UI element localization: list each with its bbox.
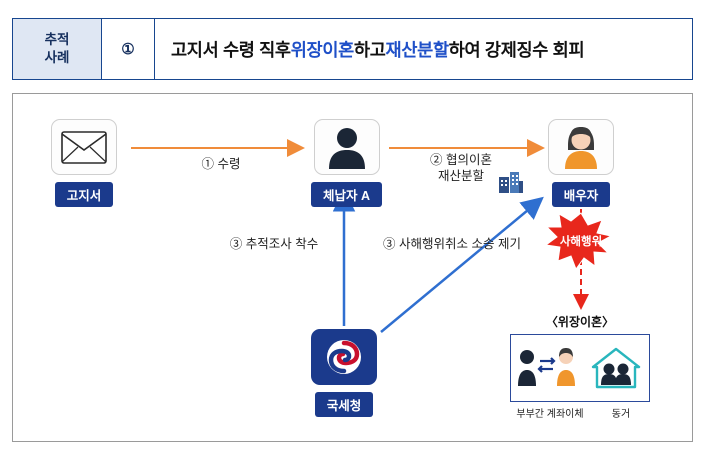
edge-label-receive: ① 수령	[171, 156, 271, 172]
node-taxpayer[interactable]: 체납자 A	[311, 119, 382, 207]
case-header-number: ①	[102, 19, 155, 79]
case-header-title-part-4: 하여 강제징수 회피	[449, 37, 585, 62]
edge-label-lawsuit: ③ 사해행위취소 소송 제기	[357, 236, 547, 252]
edge-label-investigate: ③ 추적조사 착수	[199, 236, 349, 252]
building-icon	[498, 170, 524, 194]
node-nts-label: 국세청	[315, 392, 374, 417]
cohabitation-house-icon	[589, 345, 643, 391]
detail-title: 〈위장이혼〉	[510, 313, 650, 330]
case-header-label: 추적 사례	[13, 19, 102, 79]
case-header-title-part-1: 위장이혼	[291, 37, 354, 62]
edge-label-divorce-line1: ② 협의이혼	[401, 152, 521, 168]
envelope-icon	[51, 119, 117, 175]
case-header-title: 고지서 수령 직후 위장이혼하고 재산분할하여 강제징수 회피	[155, 19, 692, 79]
detail-box	[510, 334, 650, 402]
case-header-label-line2: 사례	[45, 49, 70, 67]
node-nts[interactable]: 국세청	[311, 329, 377, 417]
diagram-panel: 고지서 체납자 A 배우자	[12, 93, 693, 442]
node-notice[interactable]: 고지서	[51, 119, 117, 207]
detail-caption-right: 동거	[597, 405, 645, 420]
case-header-title-part-2: 하고	[354, 37, 386, 62]
nts-logo-icon	[311, 329, 377, 385]
person-dark-icon	[314, 119, 380, 175]
node-spouse-label: 배우자	[552, 182, 611, 207]
burst-label: 사해행위	[551, 233, 611, 249]
case-header-title-part-0: 고지서 수령 직후	[171, 37, 291, 62]
case-header-label-line1: 추적	[45, 31, 70, 49]
node-spouse[interactable]: 배우자	[548, 119, 614, 207]
node-taxpayer-label: 체납자 A	[311, 182, 382, 207]
person-female-icon	[548, 119, 614, 175]
node-notice-label: 고지서	[55, 182, 114, 207]
couple-transfer-icon	[517, 346, 577, 390]
case-header: 추적 사례 ① 고지서 수령 직후 위장이혼하고 재산분할하여 강제징수 회피	[12, 18, 693, 80]
detail-caption-left: 부부간 계좌이체	[510, 405, 590, 420]
case-header-title-part-3: 재산분할	[386, 37, 449, 62]
